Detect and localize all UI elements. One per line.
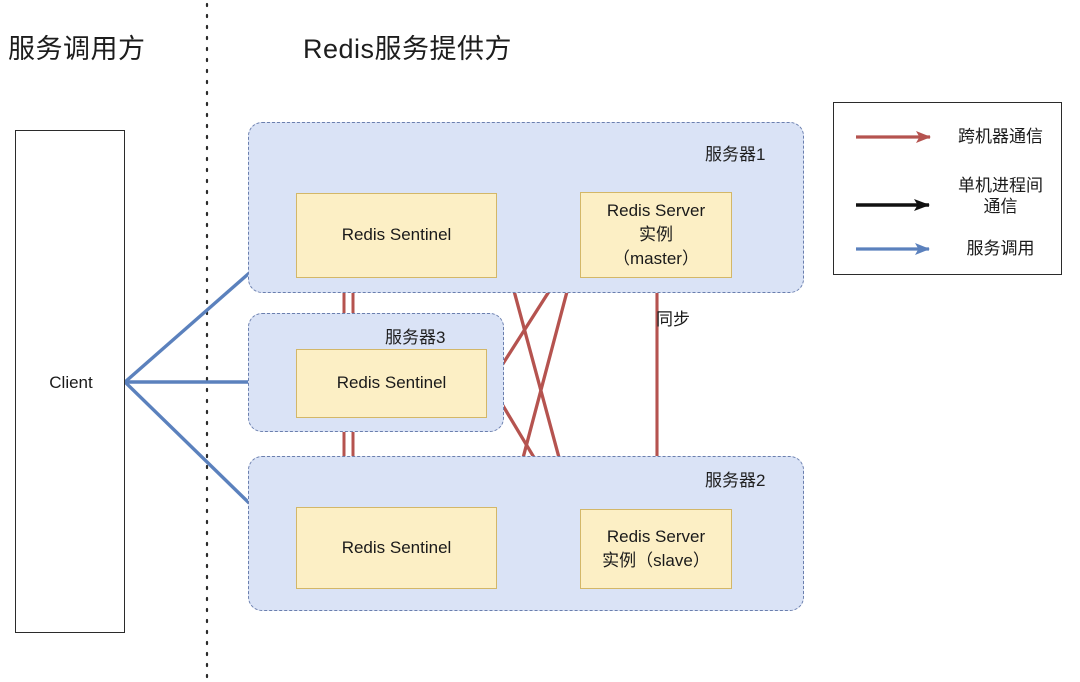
node-label-line3: （master） bbox=[613, 247, 699, 271]
server-group-label-server2: 服务器2 bbox=[705, 466, 765, 491]
legend-arrow-black-icon bbox=[834, 180, 942, 212]
legend-label-line1: 单机进程间 bbox=[958, 176, 1043, 195]
node-label-line1: Redis Server bbox=[607, 199, 705, 223]
edge-label-sync: 同步 bbox=[656, 305, 690, 330]
section-title-consumer: 服务调用方 bbox=[8, 27, 146, 66]
node-label-line1: Redis Server bbox=[607, 525, 705, 549]
legend-item-cross-machine: 跨机器通信 bbox=[834, 121, 1063, 153]
legend-item-service-call: 服务调用 bbox=[834, 233, 1063, 265]
node-label-line2: 实例 bbox=[639, 223, 673, 247]
node-label: Redis Sentinel bbox=[342, 536, 452, 560]
node-redis-server-slave[interactable]: Redis Server 实例（slave） bbox=[580, 509, 732, 589]
legend-arrow-blue-icon bbox=[834, 233, 942, 265]
node-redis-server-master[interactable]: Redis Server 实例 （master） bbox=[580, 192, 732, 278]
node-redis-sentinel-3[interactable]: Redis Sentinel bbox=[296, 349, 487, 418]
legend-item-intra-machine: 单机进程间 通信 bbox=[834, 171, 1063, 221]
legend-label: 服务调用 bbox=[942, 238, 1063, 259]
legend-label: 单机进程间 通信 bbox=[942, 175, 1063, 218]
node-label: Redis Sentinel bbox=[342, 223, 452, 247]
node-label: Redis Sentinel bbox=[337, 371, 447, 395]
server-group-label-server1: 服务器1 bbox=[705, 140, 765, 165]
node-label-line2: 实例（slave） bbox=[602, 549, 710, 573]
legend-label: 跨机器通信 bbox=[942, 126, 1063, 147]
legend-label-line1: 跨机器通信 bbox=[958, 127, 1043, 146]
node-redis-sentinel-1[interactable]: Redis Sentinel bbox=[296, 193, 497, 278]
client-box[interactable]: Client bbox=[15, 130, 125, 633]
diagram-canvas: 服务调用方 Redis服务提供方 Client 服务器1 服务器3 服务器2 R… bbox=[0, 0, 1080, 682]
legend-label-line1: 服务调用 bbox=[967, 239, 1035, 258]
node-redis-sentinel-2[interactable]: Redis Sentinel bbox=[296, 507, 497, 589]
client-label: Client bbox=[16, 373, 126, 393]
legend-box: 跨机器通信 单机进程间 通信 bbox=[833, 102, 1062, 275]
server-group-label-server3: 服务器3 bbox=[385, 323, 445, 348]
nodes-layer: 服务调用方 Redis服务提供方 Client 服务器1 服务器3 服务器2 R… bbox=[0, 0, 1080, 682]
legend-label-line2: 通信 bbox=[942, 196, 1059, 217]
legend-arrow-red-icon bbox=[834, 121, 942, 153]
section-title-provider: Redis服务提供方 bbox=[303, 27, 512, 66]
